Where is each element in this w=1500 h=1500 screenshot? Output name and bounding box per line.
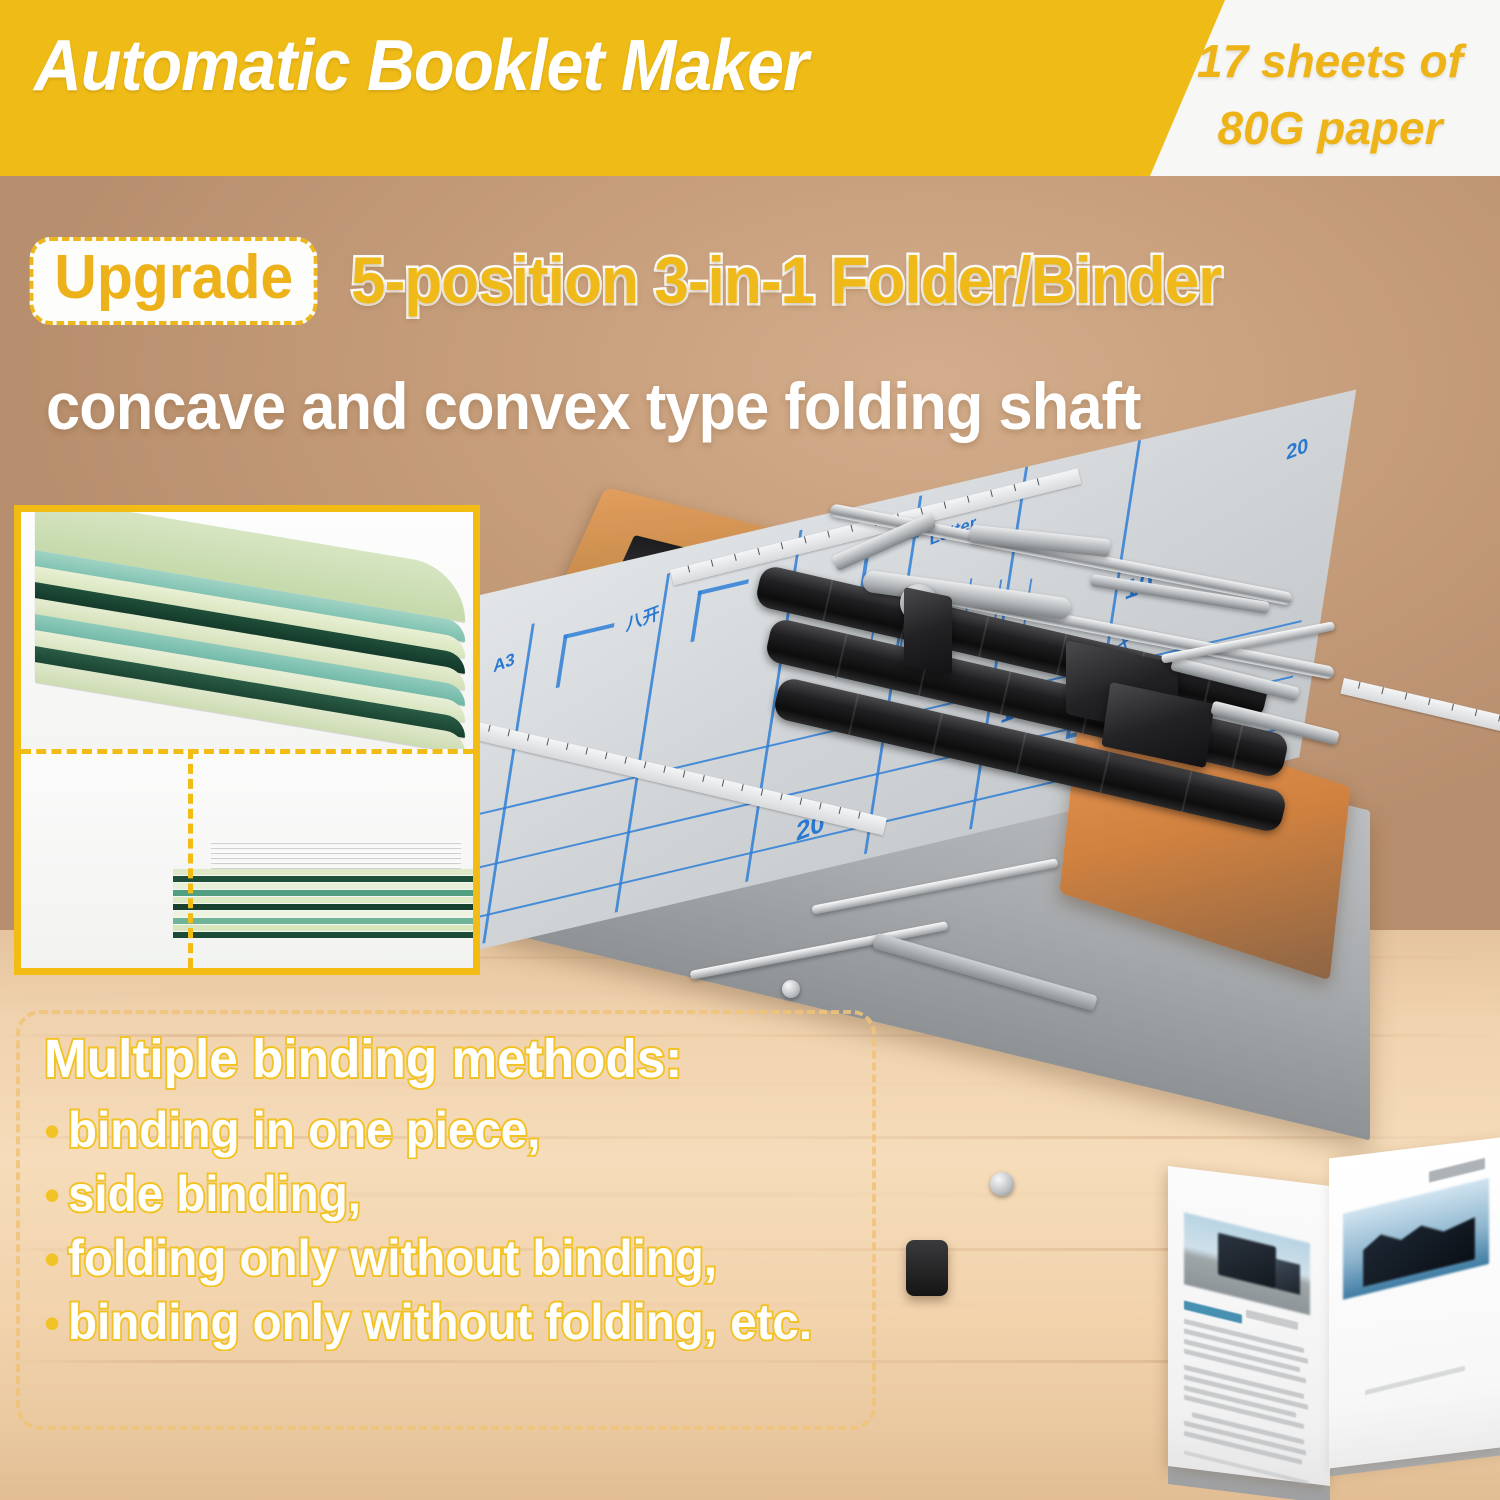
headline-main: 5-position 3-in-1 Folder/Binder [351, 246, 1221, 315]
capacity-line-2: 80G paper [1170, 95, 1490, 162]
bullet-icon: • [44, 1300, 60, 1346]
page-title: Automatic Booklet Maker [34, 30, 808, 102]
folded-paper-sample-inset [14, 505, 480, 975]
pivot-screw-side [990, 1172, 1014, 1196]
inset-bottom-photo [21, 749, 473, 968]
inset-top-photo [21, 512, 473, 749]
truck-photo [1184, 1212, 1310, 1315]
pivot-screw-front [782, 980, 800, 998]
flat-folded-stack [173, 869, 473, 965]
binding-method-3: folding only without binding, [68, 1230, 717, 1286]
binding-method-4: binding only without folding, etc. [68, 1294, 812, 1350]
bullet-icon: • [44, 1108, 60, 1154]
bullet-icon: • [44, 1236, 60, 1282]
header-banner: Automatic Booklet Maker 17 sheets of 80G… [0, 0, 1500, 176]
shipping-carton [1168, 1148, 1500, 1500]
carton-face-left [1168, 1166, 1330, 1486]
paper-edge-closeup [27, 753, 149, 968]
inset-divider-vertical [188, 749, 193, 968]
capacity-callout: 17 sheets of 80G paper [1170, 28, 1490, 161]
product-banner-stage: A3 八开 A4 Letter 十六开 20 15 10 20 [0, 0, 1500, 1500]
fanned-paper-stack [21, 522, 473, 749]
bullet-icon: • [44, 1172, 60, 1218]
headline-sub: concave and convex type folding shaft [46, 372, 1141, 441]
ship-photo [1343, 1178, 1489, 1300]
list-item: • binding in one piece, [44, 1102, 846, 1158]
binding-method-1: binding in one piece, [68, 1102, 540, 1158]
binding-methods-panel: Multiple binding methods: • binding in o… [16, 1010, 876, 1430]
deck-label-bakai: 八开 [626, 598, 660, 636]
paper-stop-left [904, 587, 952, 675]
capacity-line-1: 17 sheets of [1170, 28, 1490, 95]
headline-row: Upgrade 5-position 3-in-1 Folder/Binder [0, 222, 1500, 340]
carton-face-right [1329, 1138, 1500, 1469]
ruler-right [1340, 678, 1500, 746]
machine-foot [906, 1240, 948, 1296]
upgrade-badge: Upgrade [30, 237, 318, 324]
list-item: • binding only without folding, etc. [44, 1294, 846, 1350]
list-item: • folding only without binding, [44, 1230, 846, 1286]
inset-divider-horizontal [21, 749, 473, 754]
deck-label-a3: A3 [493, 649, 515, 678]
binding-method-2: side binding, [68, 1166, 361, 1222]
deck-number-20b: 20 [1286, 434, 1309, 466]
list-item: • side binding, [44, 1166, 846, 1222]
binding-methods-title: Multiple binding methods: [44, 1030, 806, 1088]
flat-white-stack [211, 841, 461, 871]
